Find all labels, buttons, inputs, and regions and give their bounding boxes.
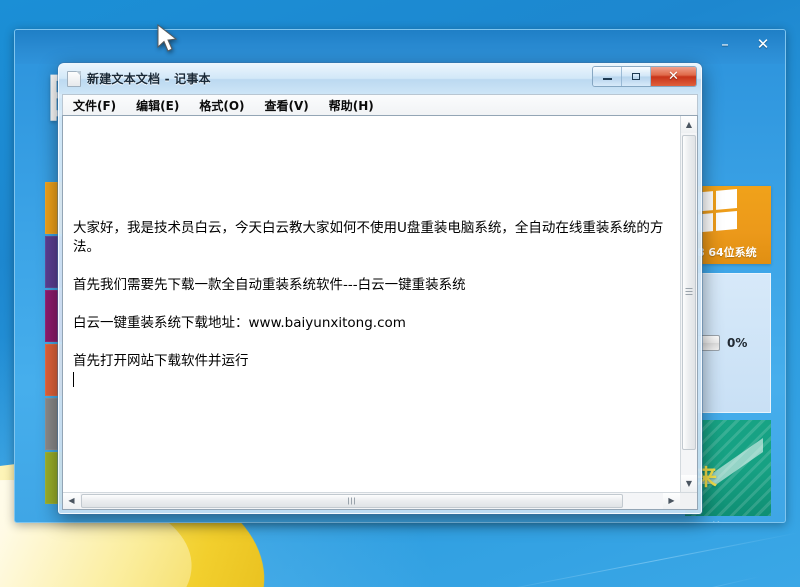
menu-item-format[interactable]: 格式(O)	[195, 95, 248, 116]
horizontal-scroll-track[interactable]	[80, 493, 663, 509]
wallpaper-streak-lower	[351, 576, 760, 587]
left-bottom-label: 程序	[45, 520, 69, 523]
notepad-line: 大家好，我是技术员白云，今天白云教大家如何不使用U盘重装电脑系统，全自动在线重装…	[73, 219, 670, 257]
notepad-vertical-scrollbar[interactable]: ▲ ▼	[680, 116, 697, 492]
notepad-window-controls: ✕	[592, 66, 697, 87]
notepad-title: 新建文本文档 - 记事本	[87, 70, 211, 87]
notepad-text-area[interactable]: 大家好，我是技术员白云，今天白云教大家如何不使用U盘重装电脑系统，全自动在线重装…	[63, 116, 680, 492]
chevron-right-icon: ▶	[668, 497, 674, 505]
progress-percent-label: 0%	[727, 336, 747, 350]
maximize-icon	[632, 73, 640, 80]
notepad-line	[73, 257, 670, 276]
text-caret	[73, 372, 74, 387]
notepad-minimize-button[interactable]	[593, 67, 622, 86]
scroll-left-button[interactable]: ◀	[63, 493, 80, 509]
vertical-scroll-track[interactable]	[681, 133, 697, 475]
notepad-line	[73, 143, 670, 162]
desktop: – ✕ 白 系 程序	[0, 0, 800, 587]
background-close-button[interactable]: ✕	[753, 34, 773, 54]
chevron-up-icon: ▲	[686, 121, 692, 129]
scroll-up-button[interactable]: ▲	[681, 116, 697, 133]
scroll-right-button[interactable]: ▶	[663, 493, 680, 509]
notepad-window[interactable]: 新建文本文档 - 记事本 ✕ 文件(F) 编辑(E) 格式(O) 查看(V) 帮…	[58, 63, 702, 514]
chevron-down-icon: ▼	[686, 480, 692, 488]
notepad-maximize-button[interactable]	[622, 67, 651, 86]
menu-item-view[interactable]: 查看(V)	[261, 95, 313, 116]
notepad-body: 大家好，我是技术员白云，今天白云教大家如何不使用U盘重装电脑系统，全自动在线重装…	[62, 115, 698, 510]
notepad-line	[73, 124, 670, 143]
menu-item-help[interactable]: 帮助(H)	[325, 95, 378, 116]
notepad-line	[73, 162, 670, 181]
scrollbar-corner	[680, 493, 697, 509]
menu-item-file[interactable]: 文件(F)	[69, 95, 120, 116]
notepad-close-button[interactable]: ✕	[651, 67, 696, 86]
notepad-line: 首先打开网站下载软件并运行	[73, 352, 670, 371]
scroll-grip-icon	[686, 288, 693, 296]
notepad-horizontal-scrollbar[interactable]: ◀ ▶	[63, 492, 697, 509]
notepad-line: 首先我们需要先下载一款全自动重装系统软件---白云一键重装系统	[73, 276, 670, 295]
minimize-icon	[603, 78, 612, 80]
notepad-menubar[interactable]: 文件(F) 编辑(E) 格式(O) 查看(V) 帮助(H)	[62, 94, 698, 115]
background-window-titlebar[interactable]: – ✕	[15, 30, 785, 64]
notepad-editor-row: 大家好，我是技术员白云，今天白云教大家如何不使用U盘重装电脑系统，全自动在线重装…	[63, 116, 697, 492]
scroll-grip-icon	[348, 498, 356, 505]
notepad-titlebar[interactable]: 新建文本文档 - 记事本 ✕	[59, 64, 701, 94]
notepad-line	[73, 200, 670, 219]
notepad-document-icon	[67, 71, 81, 87]
notepad-line	[73, 371, 670, 390]
chevron-left-icon: ◀	[68, 497, 74, 505]
notepad-line	[73, 295, 670, 314]
notepad-line: 白云一键重装系统下载地址：www.baiyunxitong.com	[73, 314, 670, 333]
vertical-scroll-thumb[interactable]	[682, 135, 696, 450]
right-bottom-label: 统 (64bit)	[711, 519, 773, 523]
background-minimize-button[interactable]: –	[715, 34, 735, 54]
menu-item-edit[interactable]: 编辑(E)	[132, 95, 183, 116]
notepad-line	[73, 333, 670, 352]
scroll-down-button[interactable]: ▼	[681, 475, 697, 492]
background-window-controls: – ✕	[715, 34, 773, 54]
notepad-line	[73, 181, 670, 200]
close-icon: ✕	[668, 71, 679, 82]
horizontal-scroll-thumb[interactable]	[81, 494, 623, 508]
